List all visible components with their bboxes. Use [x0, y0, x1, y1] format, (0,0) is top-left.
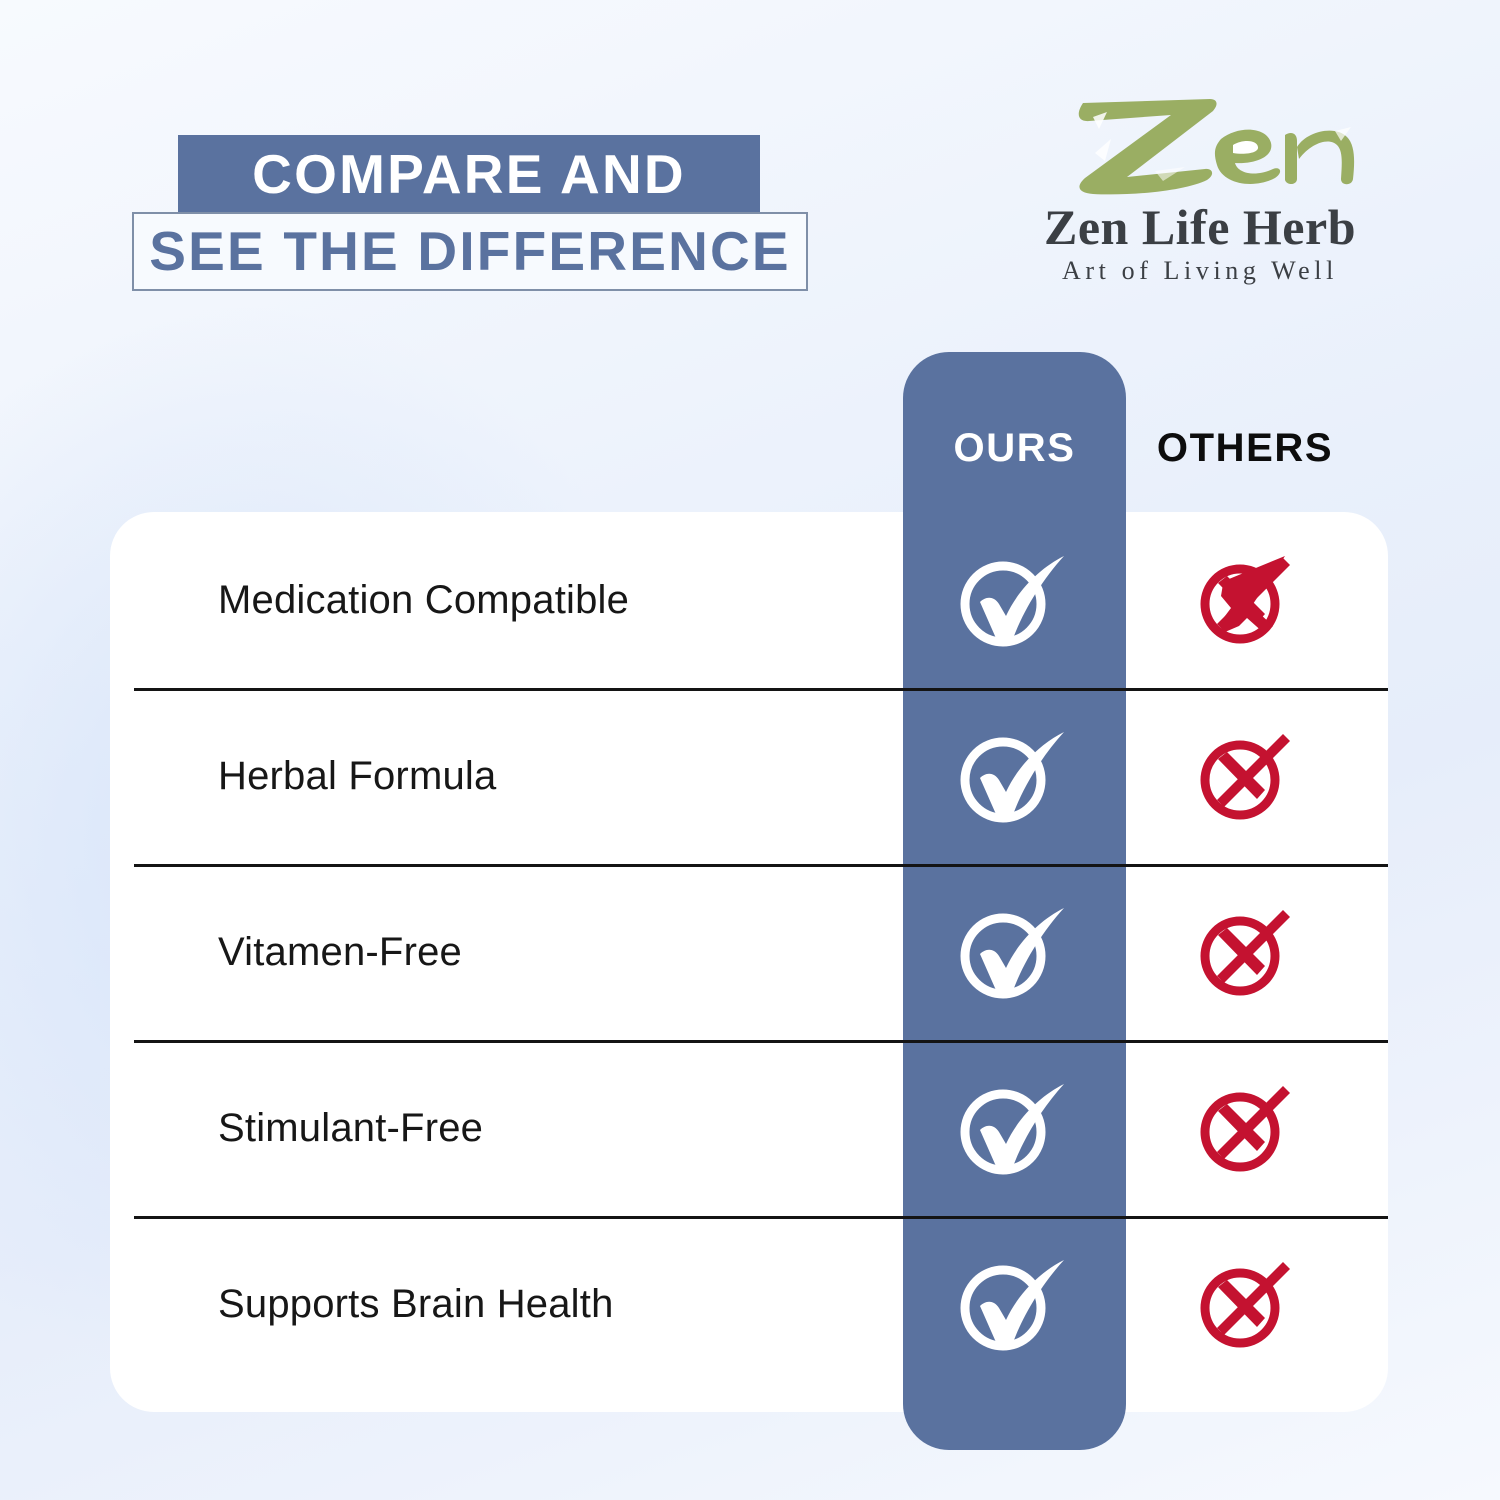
title-line-2-banner: SEE THE DIFFERENCE: [132, 212, 808, 291]
check-circle-icon: [956, 1252, 1074, 1356]
brand-logo: Zen Life Herb Art of Living Well: [1015, 95, 1385, 286]
row-label: Stimulant-Free: [218, 1040, 483, 1216]
title-line-1-banner: COMPARE AND: [178, 135, 760, 213]
row-label: Vitamen-Free: [218, 864, 462, 1040]
table-row: Stimulant-Free: [110, 1040, 1388, 1216]
row-divider: [134, 688, 1388, 691]
cell-ours: [903, 688, 1126, 864]
row-label: Herbal Formula: [218, 688, 496, 864]
title-line-1-text: COMPARE AND: [252, 147, 686, 202]
cross-circle-icon: [1195, 552, 1295, 648]
table-row: Supports Brain Health: [110, 1216, 1388, 1392]
cell-ours: [903, 512, 1126, 688]
row-divider: [134, 1216, 1388, 1219]
zen-brushstroke-icon: [1035, 95, 1365, 200]
cell-others: [1135, 1040, 1355, 1216]
cell-ours: [903, 1040, 1126, 1216]
cross-circle-icon: [1195, 904, 1295, 1000]
column-header-ours: OURS: [903, 428, 1126, 468]
cell-others: [1135, 512, 1355, 688]
title-line-2-text: SEE THE DIFFERENCE: [149, 224, 791, 279]
brand-name: Zen Life Herb: [1015, 202, 1385, 253]
cross-circle-icon: [1195, 1080, 1295, 1176]
infographic-canvas: COMPARE AND SEE THE DIFFERENCE Zen Life …: [0, 0, 1500, 1500]
cell-ours: [903, 864, 1126, 1040]
check-circle-icon: [956, 1076, 1074, 1180]
check-circle-icon: [956, 548, 1074, 652]
table-row: Medication Compatible: [110, 512, 1388, 688]
table-row: Vitamen-Free: [110, 864, 1388, 1040]
row-divider: [134, 1040, 1388, 1043]
cell-others: [1135, 864, 1355, 1040]
check-circle-icon: [956, 900, 1074, 1004]
brand-tagline: Art of Living Well: [1015, 257, 1385, 286]
comparison-rows: Medication Compatible Herbal Formula: [110, 512, 1388, 1412]
cross-circle-icon: [1195, 728, 1295, 824]
cell-others: [1135, 1216, 1355, 1392]
table-row: Herbal Formula: [110, 688, 1388, 864]
cross-circle-icon: [1195, 1256, 1295, 1352]
row-label: Medication Compatible: [218, 512, 629, 688]
row-divider: [134, 864, 1388, 867]
row-label: Supports Brain Health: [218, 1216, 614, 1392]
cell-others: [1135, 688, 1355, 864]
column-header-others: OTHERS: [1135, 428, 1355, 468]
cell-ours: [903, 1216, 1126, 1392]
check-circle-icon: [956, 724, 1074, 828]
